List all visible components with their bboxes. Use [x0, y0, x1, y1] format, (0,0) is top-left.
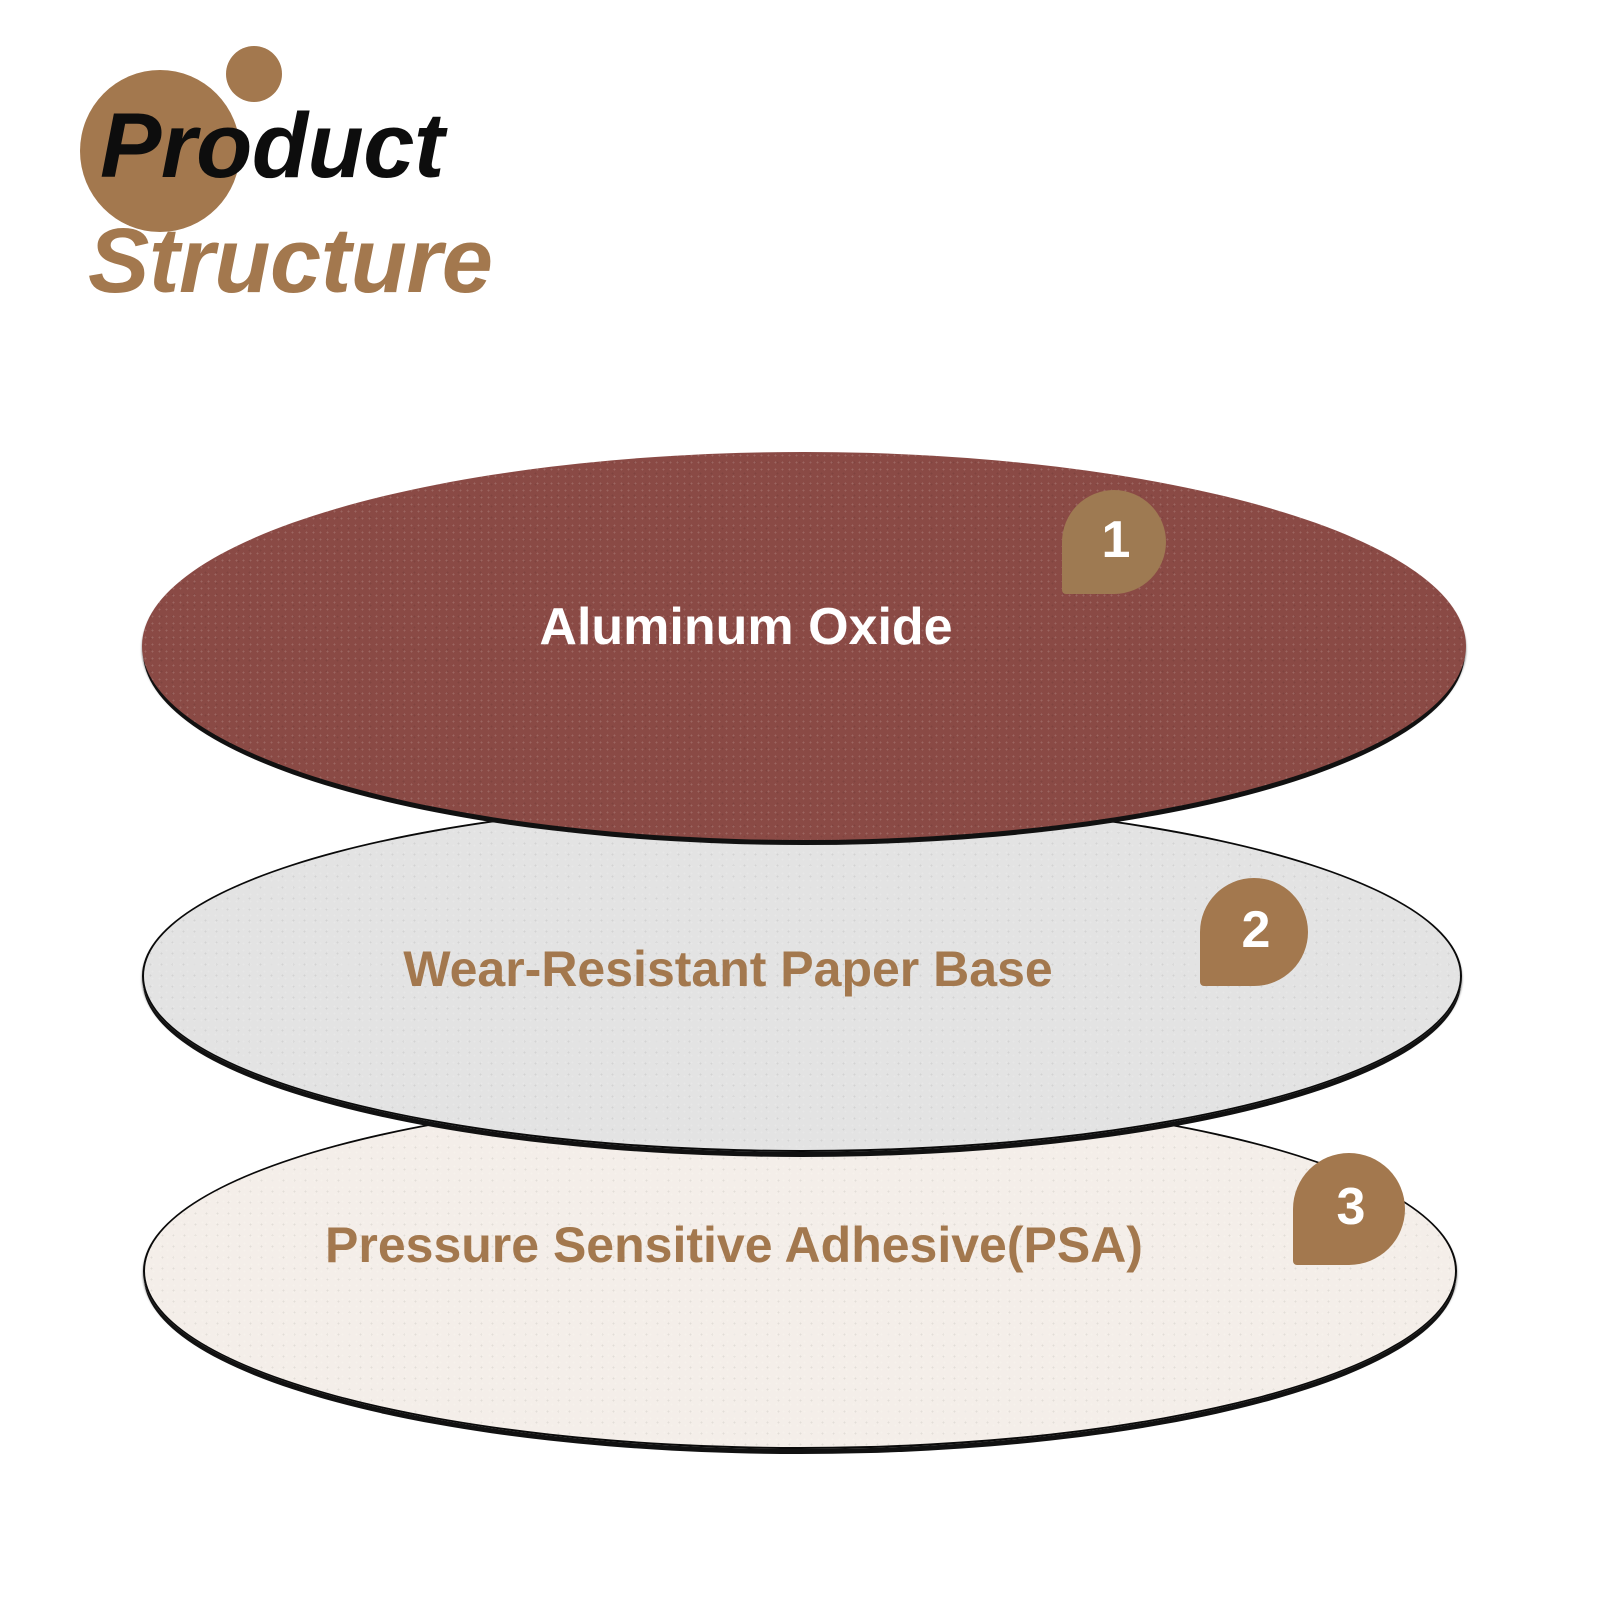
layer-badge-3[interactable]: 3: [1293, 1153, 1405, 1265]
layer-disc-2[interactable]: 2 Wear-Resistant Paper Base: [142, 800, 1462, 1152]
layer-badge-1[interactable]: 1: [1062, 490, 1166, 594]
layer-disc-1[interactable]: 1 Aluminum Oxide: [142, 452, 1466, 840]
layer-label-3: Pressure Sensitive Adhesive(PSA): [77, 1216, 1391, 1274]
product-structure-diagram: 3 Pressure Sensitive Adhesive(PSA) 2 Wea…: [0, 0, 1600, 1600]
layer-badge-number-3: 3: [1337, 1181, 1366, 1233]
layer-badge-number-1: 1: [1102, 514, 1131, 566]
layer-label-1: Aluminum Oxide: [84, 597, 1408, 657]
layer-label-2: Wear-Resistant Paper Base: [68, 940, 1388, 998]
layer-badge-2[interactable]: 2: [1200, 878, 1308, 986]
layer-badge-number-2: 2: [1242, 904, 1271, 956]
